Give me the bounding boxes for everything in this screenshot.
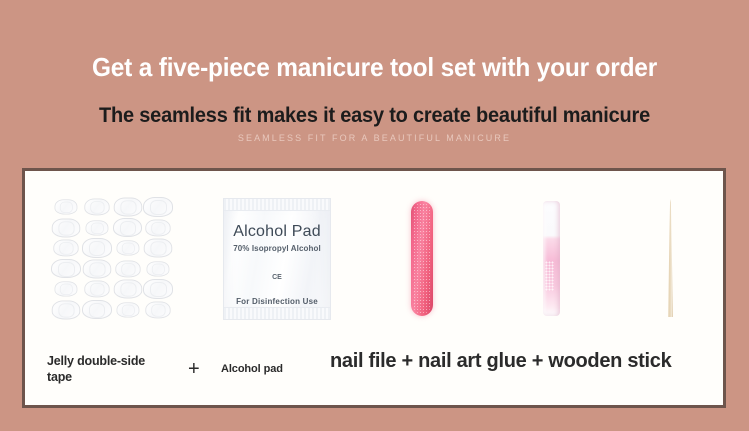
nail-file-icon xyxy=(411,201,433,316)
promo-banner: Get a five-piece manicure tool set with … xyxy=(0,0,749,431)
alcohol-pad-packet-icon: Alcohol Pad 70% Isopropyl Alcohol CE For… xyxy=(223,198,331,320)
product-image-alcohol-pad: Alcohol Pad 70% Isopropyl Alcohol CE For… xyxy=(193,171,361,343)
page-title: Get a five-piece manicure tool set with … xyxy=(22,52,726,82)
nail-glue-tube-icon xyxy=(543,201,560,316)
caption-tool-trio: nail file + nail art glue + wooden stick xyxy=(330,353,671,369)
packet-subtitle-text: 70% Isopropyl Alcohol xyxy=(224,244,330,253)
micro-caption: SEAMLESS FIT FOR A BEAUTIFUL MANICURE xyxy=(0,132,749,144)
product-image-strip: Alcohol Pad 70% Isopropyl Alcohol CE For… xyxy=(25,171,723,343)
subheadline: The seamless fit makes it easy to create… xyxy=(19,103,731,128)
plus-separator-icon: + xyxy=(188,361,200,377)
caption-jelly-tape: Jelly double-side tape xyxy=(47,353,169,385)
wooden-stick-icon xyxy=(668,199,673,317)
product-showcase-card: Alcohol Pad 70% Isopropyl Alcohol CE For… xyxy=(22,168,726,408)
product-caption-row: Jelly double-side tape + Alcohol pad nai… xyxy=(25,343,723,405)
jelly-tape-sheet-icon xyxy=(51,197,173,319)
packet-title-text: Alcohol Pad xyxy=(224,223,330,241)
product-image-nail-file xyxy=(361,171,491,343)
product-image-nail-glue xyxy=(491,171,623,343)
product-image-wooden-stick xyxy=(623,171,723,343)
packet-ce-mark-text: CE xyxy=(224,274,330,281)
product-image-jelly-tape xyxy=(33,171,193,343)
caption-alcohol-pad: Alcohol pad xyxy=(221,361,341,377)
packet-footer-text: For Disinfection Use xyxy=(224,297,330,306)
